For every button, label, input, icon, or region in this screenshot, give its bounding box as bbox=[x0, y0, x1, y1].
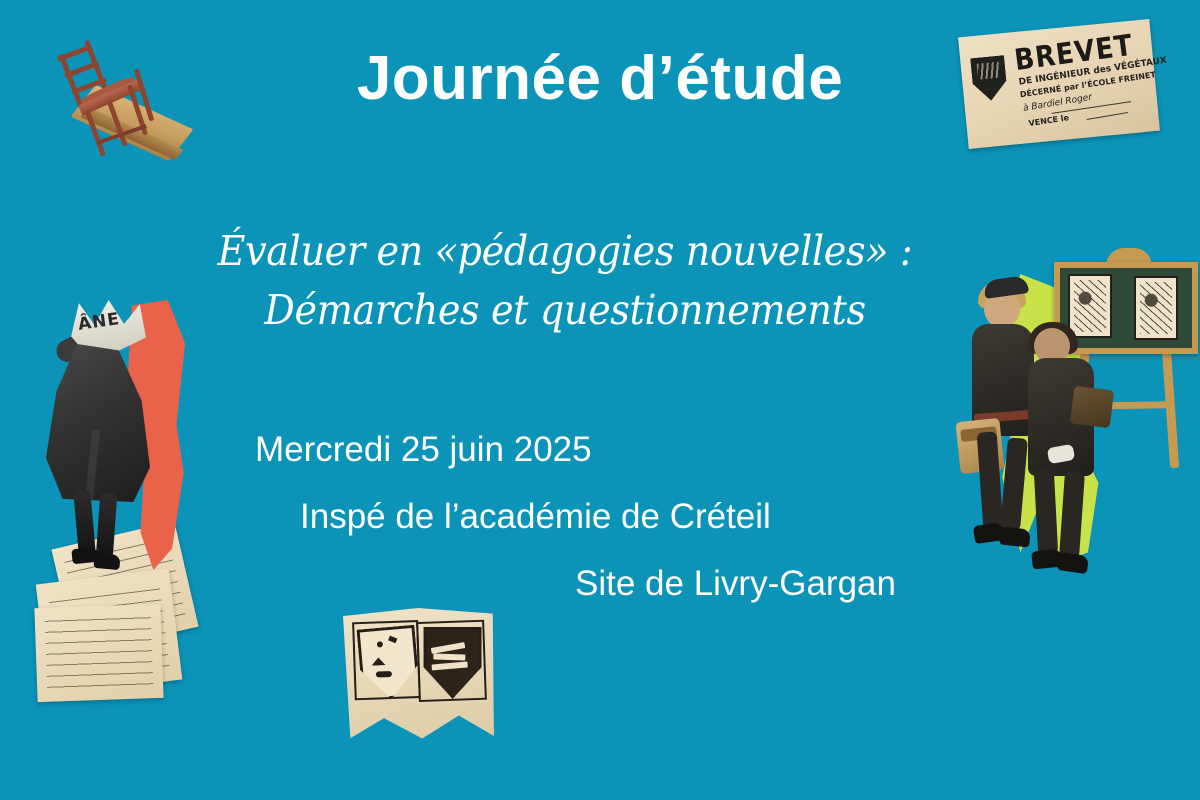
chalkboard-heraldic-panel bbox=[1134, 276, 1178, 340]
panel-engraving bbox=[1140, 282, 1172, 334]
heraldic-paper-banner-image bbox=[340, 605, 501, 746]
page-title: Journée d’étude bbox=[0, 46, 1200, 111]
handwriting-lines bbox=[45, 614, 153, 695]
event-institution: Inspé de l’académie de Créteil bbox=[0, 499, 1200, 534]
event-site: Site de Livry-Gargan bbox=[0, 566, 1200, 601]
manuscript-sheet bbox=[34, 604, 163, 702]
panel-engraving bbox=[1074, 280, 1106, 332]
subtitle-line-2: Démarches et questionnements bbox=[179, 281, 951, 340]
poster-details: Mercredi 25 juin 2025 Inspé de l’académi… bbox=[0, 432, 1200, 601]
book-shape bbox=[431, 661, 467, 670]
chair-leg bbox=[85, 110, 106, 157]
book-shape bbox=[433, 653, 465, 660]
poster-canvas: BREVET DE INGÉNIEUR des VÉGÉTAUX DÉCERNÉ… bbox=[0, 0, 1200, 800]
subtitle-line-1: Évaluer en «pédagogies nouvelles» : bbox=[179, 222, 951, 281]
event-date: Mercredi 25 juin 2025 bbox=[0, 432, 1200, 467]
shield-charge bbox=[376, 671, 392, 678]
poster-subtitle: Évaluer en «pédagogies nouvelles» : Déma… bbox=[150, 222, 980, 341]
stacked-books-icon bbox=[431, 644, 470, 673]
child-backpack bbox=[1070, 386, 1114, 429]
